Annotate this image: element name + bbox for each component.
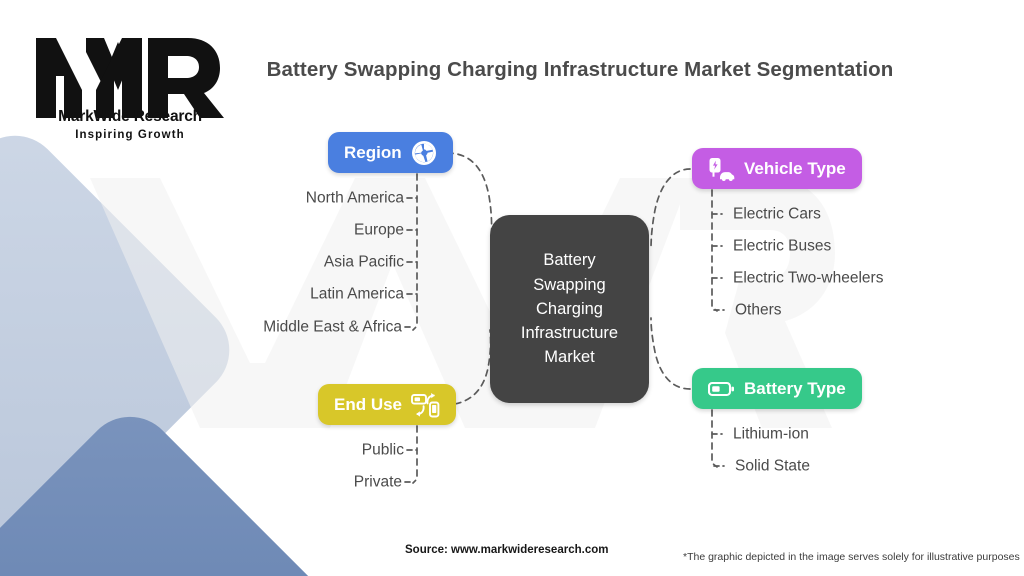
- disclaimer-label: *The graphic depicted in the image serve…: [683, 551, 1020, 563]
- center-line-5: Market: [521, 345, 618, 369]
- category-label-region: Region: [344, 143, 402, 163]
- center-line-1: Battery: [521, 248, 618, 272]
- leaf-region-2: Asia Pacific: [324, 254, 404, 270]
- leaf-region-0: North America: [306, 190, 404, 206]
- leaf-vehicle-2: Electric Two-wheelers: [733, 270, 883, 286]
- center-node: Battery Swapping Charging Infrastructure…: [490, 215, 649, 403]
- category-pill-end-use[interactable]: End Use: [318, 384, 456, 425]
- ev-charger-car-icon: [708, 157, 735, 181]
- leaf-enduse-0: Public: [362, 442, 404, 458]
- leaf-vehicle-3: Others: [735, 302, 782, 318]
- category-pill-vehicle-type[interactable]: Vehicle Type: [692, 148, 862, 189]
- globe-icon: [411, 140, 437, 166]
- category-pill-region[interactable]: Region: [328, 132, 453, 173]
- leaf-region-1: Europe: [354, 222, 404, 238]
- leaf-region-4: Middle East & Africa: [263, 319, 402, 335]
- center-line-3: Charging: [521, 297, 618, 321]
- category-label-vehicle-type: Vehicle Type: [744, 159, 846, 179]
- leaf-enduse-1: Private: [354, 474, 402, 490]
- category-pill-battery-type[interactable]: Battery Type: [692, 368, 862, 409]
- battery-icon: [708, 380, 735, 398]
- leaf-battery-0: Lithium-ion: [733, 426, 809, 442]
- center-line-2: Swapping: [521, 273, 618, 297]
- leaf-region-3: Latin America: [310, 286, 404, 302]
- source-label: Source: www.markwideresearch.com: [405, 544, 608, 556]
- center-node-label: Battery Swapping Charging Infrastructure…: [521, 248, 618, 369]
- category-label-end-use: End Use: [334, 395, 402, 415]
- leaf-vehicle-0: Electric Cars: [733, 206, 821, 222]
- category-label-battery-type: Battery Type: [744, 379, 846, 399]
- leaf-vehicle-1: Electric Buses: [733, 238, 831, 254]
- infographic-canvas: . MarkWide Research Inspiring Growth Bat…: [0, 0, 1024, 576]
- battery-swap-icon: [411, 392, 440, 418]
- leaf-battery-1: Solid State: [735, 458, 810, 474]
- center-line-4: Infrastructure: [521, 321, 618, 345]
